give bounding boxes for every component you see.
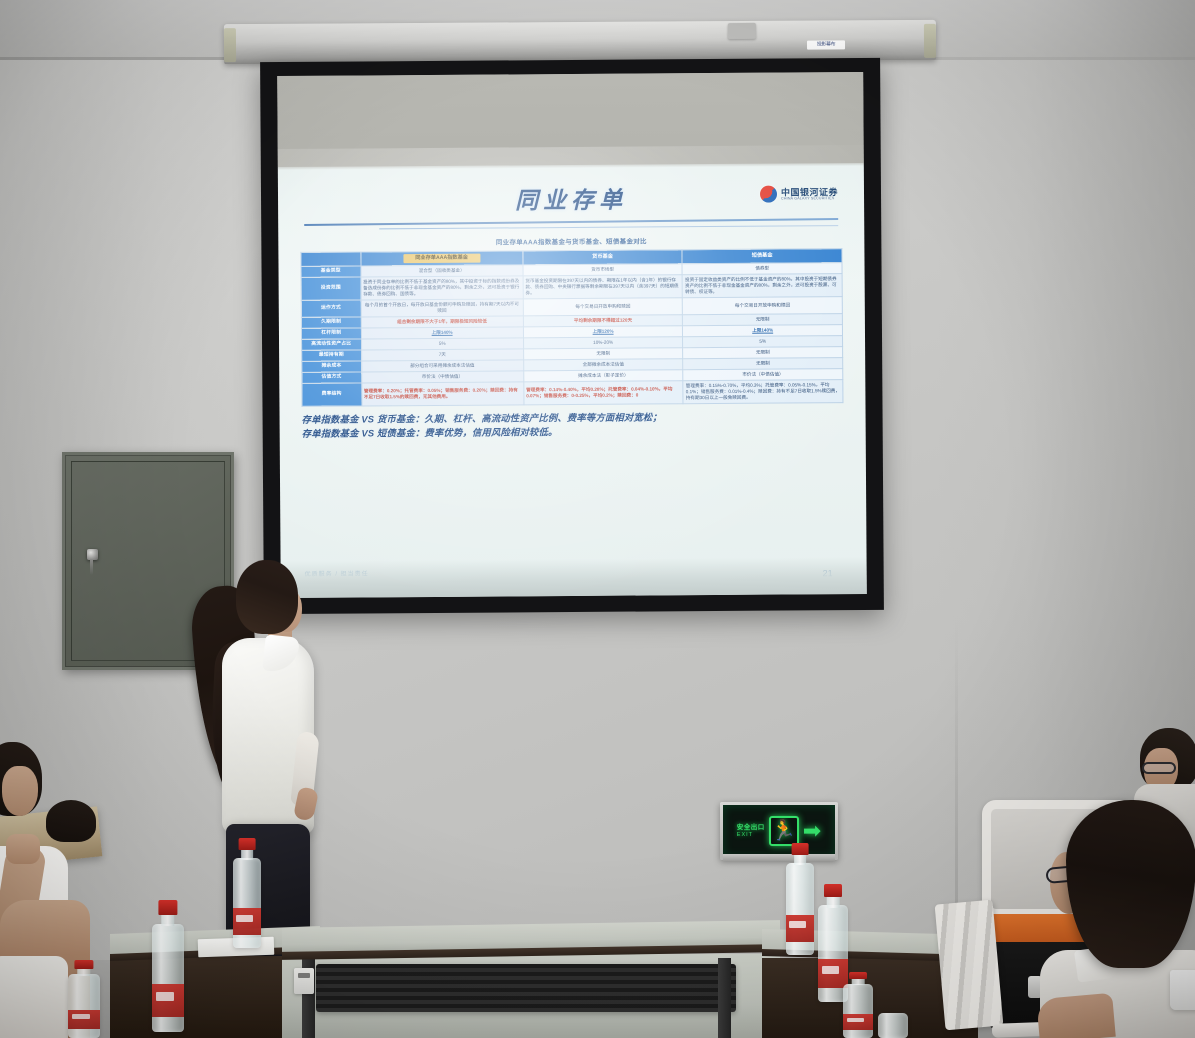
housing-ceiling-mount (728, 23, 756, 39)
housing-endcap-left (224, 28, 236, 62)
bottle-neck (794, 854, 806, 865)
row-label: 投资范围 (301, 277, 361, 300)
row-label: 费率结构 (302, 383, 362, 406)
presentation-slide: 中国银河证券 CHINA GALAXY SECURITIES 同业存单 同业存单… (278, 163, 867, 598)
bottle-cap (792, 843, 809, 855)
bottle-neck (241, 849, 253, 860)
bottle-label (152, 984, 184, 1016)
conference-room-scene: 投影幕布 中国银河证券 CHINA GALAXY SECURITIES 同业存单 (0, 0, 1195, 1038)
bottle-label (786, 915, 814, 943)
right-arrow-icon: ➡ (803, 820, 821, 842)
row-cell: 投资于同业存单的比例不低于基金资产的80%，其中投资于标的指数成份券及备选成份券… (361, 276, 523, 300)
wall-power-outlet[interactable] (294, 968, 314, 994)
bottle-body (843, 984, 873, 1038)
slide-conclusion-bullets: 存单指数基金 VS 货币基金：久期、杠杆、高流动性资产比例、费率等方面相对宽松；… (302, 410, 844, 442)
bottle-body (152, 924, 184, 1032)
audience-right-front (1048, 800, 1195, 1038)
exit-sign-text-cn: 安全出口 (737, 824, 765, 831)
bottle-label (843, 1014, 873, 1030)
table-header-highlight: 同业存单AAA指数基金 (360, 251, 522, 266)
bottle-body (878, 1013, 908, 1038)
screen-top-dark-band (277, 72, 864, 167)
audience-right-front-arm (1036, 993, 1116, 1038)
screen-bottom-band (281, 557, 867, 598)
slide-subtitle: 同业存单AAA指数基金与货币基金、短债基金对比 (300, 234, 842, 248)
comparison-table: 同业存单AAA指数基金 货币基金 短债基金 基金类型 混合型（固收类基金） 货币… (300, 248, 843, 406)
projector-screen-surface: 中国银河证券 CHINA GALAXY SECURITIES 同业存单 同业存单… (277, 72, 867, 598)
bottle-neck (827, 896, 840, 908)
header-col-3-label: 短债基金 (682, 249, 842, 264)
brand-name-en: CHINA GALAXY SECURITIES (781, 197, 838, 201)
title-divider (304, 219, 838, 232)
table-center-leg-right (718, 958, 731, 1038)
presenter-head (236, 560, 298, 634)
bottle-body (68, 974, 100, 1038)
glasses-icon (1142, 762, 1176, 774)
chair-folded-frames (935, 900, 1004, 1031)
bullet-line-2: 存单指数基金 VS 短债基金：费率优势，信用风险相对较低。 (302, 424, 844, 442)
runner-glyph: 🏃 (771, 821, 796, 841)
projector-screen-frame: 中国银河证券 CHINA GALAXY SECURITIES 同业存单 同业存单… (260, 58, 884, 614)
row-cell: 投资于固定收益类资产的比例不低于基金资产的80%，其中投资于短期债券资产的比例不… (682, 274, 842, 298)
housing-brand-label: 投影幕布 (807, 40, 845, 49)
row-cell: 每个交易日开放申购和赎回 (523, 297, 683, 315)
row-cell: 每个交易日开放申购和赎回 (683, 296, 843, 314)
bottle-cap (239, 838, 256, 850)
row-label: 估值方式 (302, 372, 362, 384)
company-logo: 中国银河证券 CHINA GALAXY SECURITIES (760, 185, 838, 203)
housing-endcap-right (924, 24, 936, 58)
comparison-table-body: 基金类型 混合型（固收类基金） 货币市场型 债券型 投资范围 投资于同业存单的比… (301, 263, 843, 407)
row-label: 运作方式 (301, 300, 361, 317)
bottle-body (233, 858, 261, 948)
row-cell: 每个月的首个开放日，每开放日基金份额可申购及赎回，持有期7天以内不可赎回 (361, 299, 523, 317)
water-bottle (233, 838, 261, 948)
header-col-1-label: 同业存单AAA指数基金 (403, 254, 480, 263)
audience-left-back-head (46, 800, 96, 842)
running-person-icon: 🏃 (769, 816, 799, 846)
emergency-exit-sign: 安全出口 EXIT 🏃 ➡ (720, 802, 838, 860)
row-cell: 管理费率：0.14%-0.40%，平均0.28%；托管费率：0.04%-0.10… (524, 381, 684, 405)
row-label: 高流动性资产占比 (302, 339, 362, 351)
water-bottle (152, 900, 184, 1032)
row-label: 杠杆限制 (301, 328, 361, 340)
water-bottle (68, 960, 100, 1038)
bottle-neck (77, 968, 90, 976)
water-bottle (878, 1008, 908, 1038)
title-rule-secondary (379, 225, 838, 229)
row-label: 基金类型 (301, 266, 361, 278)
bottle-cap (849, 972, 867, 979)
audience-right-front-hair (1066, 800, 1195, 968)
row-label: 摊余成本 (302, 361, 362, 373)
audience-left-front-hand (6, 834, 40, 864)
exit-sign-base (723, 854, 835, 861)
bottle-cap (824, 884, 842, 897)
table-corner-cell (301, 252, 361, 266)
galaxy-swirl-icon (760, 186, 777, 203)
bottle-label (233, 908, 261, 935)
row-cell: 管理费率：0.15%-0.70%，平均0.3%；托管费率：0.05%-0.15%… (683, 380, 843, 404)
lock-icon[interactable] (87, 549, 98, 560)
row-cell: 管理费率：0.20%；托管费率：0.05%；销售服务费：0.20%；赎回费：持有… (361, 382, 523, 406)
bottle-neck (852, 979, 865, 986)
bottle-cap (74, 960, 93, 969)
audience-left-back (46, 800, 100, 870)
paper-cup (1170, 970, 1195, 1010)
row-cell: 货币基金投资期限在397天以内的债券、期限在1年以内（含1年）的银行存款、债券回… (523, 275, 683, 299)
hvac-vent (316, 964, 736, 1012)
audience-left-lower-shirt (0, 956, 68, 1038)
exit-sign-face: 安全出口 EXIT 🏃 ➡ (723, 805, 835, 857)
bottle-body (786, 863, 814, 955)
row-label: 最短持有期 (302, 350, 362, 362)
bottle-neck (161, 913, 174, 926)
bottle-label (68, 1010, 100, 1029)
audience-left-front-face (2, 766, 38, 816)
header-col-2-label: 货币基金 (523, 250, 683, 265)
table-row: 费率结构 管理费率：0.20%；托管费率：0.05%；销售服务费：0.20%；赎… (302, 380, 843, 406)
bottle-cap (158, 900, 177, 915)
table-center (282, 924, 780, 1038)
water-bottle (786, 843, 814, 955)
water-bottle (843, 972, 873, 1038)
exit-sign-text-en: EXIT (737, 832, 765, 838)
row-label: 久期限制 (301, 316, 361, 328)
